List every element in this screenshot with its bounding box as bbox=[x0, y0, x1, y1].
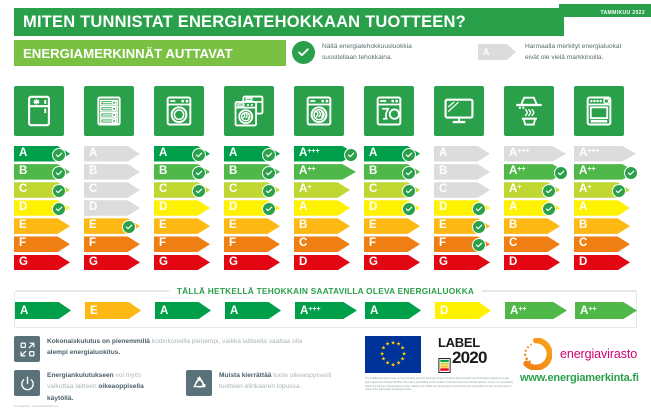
energy-class-label: G bbox=[434, 257, 448, 269]
energy-class-bar[interactable]: D bbox=[84, 200, 140, 216]
energy-class-label: F bbox=[14, 238, 26, 250]
best-class-bar[interactable]: A bbox=[15, 302, 71, 319]
infographic-page: TAMMIKUU 2022 MITEN TUNNISTAT ENERGIATEH… bbox=[0, 0, 651, 410]
recommended-check-icon bbox=[402, 184, 416, 198]
energy-label-icon bbox=[438, 358, 451, 373]
energy-class-bar[interactable]: G bbox=[154, 255, 210, 271]
energy-class-label: D bbox=[84, 202, 97, 214]
product-icon-box bbox=[154, 86, 204, 136]
recommended-check-icon bbox=[262, 166, 276, 180]
energy-class-bar[interactable]: B bbox=[84, 164, 140, 180]
best-class-label: A bbox=[365, 305, 378, 317]
recommended-check-icon bbox=[192, 166, 206, 180]
recommended-check-icon bbox=[52, 148, 66, 162]
energy-class-label: A bbox=[294, 202, 307, 214]
energy-class-label: B bbox=[294, 220, 307, 232]
header-subtitle-bar: ENERGIAMERKINNÄT AUTTAVAT bbox=[14, 40, 286, 66]
product-icon-box bbox=[504, 86, 554, 136]
energy-class-bar[interactable]: F bbox=[224, 236, 280, 252]
gray-arrow-label: A bbox=[478, 47, 490, 57]
refrigerator-icon bbox=[22, 94, 56, 128]
footer-tip-total-consumption: Kokonaiskulutus on pienemmillä kodinkone… bbox=[14, 336, 324, 362]
energy-class-label: F bbox=[154, 238, 166, 250]
product-column: A+++A++A+ABCD bbox=[574, 86, 642, 273]
energy-class-label: C bbox=[434, 184, 447, 196]
energy-class-bar[interactable]: B bbox=[294, 218, 350, 234]
product-icon-box bbox=[224, 86, 274, 136]
footer-tip-text: Kokonaiskulutus on pienemmillä kodinkone… bbox=[47, 336, 315, 359]
product-column: A+++A++A+ABCD bbox=[504, 86, 572, 273]
energy-class-label: C bbox=[224, 184, 237, 196]
recommended-check-icon bbox=[402, 202, 416, 216]
divider-left bbox=[15, 290, 169, 291]
best-class-bar[interactable]: A++ bbox=[575, 302, 637, 319]
energy-class-label: A bbox=[14, 148, 27, 160]
product-icon-box bbox=[434, 86, 484, 136]
energy-class-label: D bbox=[364, 202, 377, 214]
best-available-title: TÄLLÄ HETKELLÄ TEHOKKAIN SAATAVILLA OLEV… bbox=[169, 286, 482, 296]
product-column: ABCDEFG bbox=[434, 86, 502, 273]
oven-icon bbox=[582, 94, 616, 128]
energy-scale: ABCDEFG bbox=[84, 146, 152, 270]
energy-class-bar[interactable]: E bbox=[224, 218, 280, 234]
recommended-check-icon bbox=[554, 166, 568, 180]
page-title: MITEN TUNNISTAT ENERGIATEHOKKAAN TUOTTEE… bbox=[14, 13, 466, 32]
energy-class-label: C bbox=[364, 184, 377, 196]
date-banner: TAMMIKUU 2022 bbox=[559, 4, 651, 17]
footer-tip-text: Energiankulutukseen voi myös vaikuttaa l… bbox=[47, 370, 167, 404]
energy-class-bar[interactable]: E bbox=[364, 218, 420, 234]
energy-class-label: E bbox=[14, 220, 27, 232]
energy-class-label: A++ bbox=[574, 166, 596, 178]
recommended-check-icon bbox=[624, 166, 638, 180]
energy-class-label: B bbox=[574, 220, 587, 232]
energy-scale: ABCDEFG bbox=[364, 146, 432, 270]
energy-class-label: E bbox=[434, 220, 447, 232]
eu-star-icon: ★ bbox=[391, 363, 396, 368]
expand-arrows-icon bbox=[14, 336, 40, 362]
energy-class-label: A+ bbox=[504, 184, 521, 196]
best-class-bar[interactable]: E bbox=[85, 302, 141, 319]
energy-class-bar[interactable]: G bbox=[84, 255, 140, 271]
energy-class-label: C bbox=[14, 184, 27, 196]
energy-class-bar[interactable]: C bbox=[574, 236, 630, 252]
legend-line-2: eivät ole vielä markkinoilla. bbox=[525, 53, 621, 64]
cooker-hood-icon bbox=[512, 94, 546, 128]
energy-class-label: G bbox=[154, 257, 168, 269]
energy-class-bar[interactable]: F bbox=[84, 236, 140, 252]
washer-dryer-icon bbox=[232, 94, 266, 128]
energy-scale: ABCDEFG bbox=[14, 146, 82, 270]
eu-star-icon: ★ bbox=[385, 342, 390, 347]
energy-class-bar[interactable]: E bbox=[14, 218, 70, 234]
legend-line-2: suositellaan tehokkaina. bbox=[322, 53, 412, 64]
energy-class-label: B bbox=[504, 220, 517, 232]
energy-class-bar[interactable]: B bbox=[434, 164, 490, 180]
energy-class-bar[interactable]: A bbox=[574, 200, 630, 216]
eu-star-icon: ★ bbox=[391, 341, 396, 346]
recommended-check-icon bbox=[402, 166, 416, 180]
energy-class-label: A bbox=[504, 202, 517, 214]
best-class-bar[interactable]: A+++ bbox=[295, 302, 357, 319]
energy-class-bar[interactable]: F bbox=[364, 236, 420, 252]
energy-class-bar[interactable]: A+++ bbox=[504, 146, 566, 162]
energy-class-label: F bbox=[364, 238, 376, 250]
recommended-check-icon bbox=[402, 148, 416, 162]
energy-class-label: E bbox=[84, 220, 97, 232]
recommended-check-icon bbox=[612, 184, 626, 198]
website-link[interactable]: www.energiamerkinta.fi bbox=[520, 372, 639, 384]
header-title-bar: MITEN TUNNISTAT ENERGIATEHOKKAAN TUOTTEE… bbox=[14, 8, 564, 36]
energy-scale: A+++A++A+ABCD bbox=[504, 146, 572, 270]
energy-class-label: A bbox=[154, 148, 167, 160]
tip-bold-1: Kokonaiskulutus on pienemmillä bbox=[47, 338, 150, 345]
energy-class-bar[interactable]: G bbox=[364, 255, 420, 271]
recommended-check-icon bbox=[542, 184, 556, 198]
energiavirasto-ring-icon bbox=[520, 338, 552, 370]
energy-class-bar[interactable]: G bbox=[434, 255, 490, 271]
product-column: ABCDEFG bbox=[14, 86, 82, 273]
energy-scale: ABCDEFG bbox=[224, 146, 292, 270]
best-class-bar[interactable]: A bbox=[365, 302, 421, 319]
energy-class-label: B bbox=[224, 166, 237, 178]
energy-class-bar[interactable]: F bbox=[14, 236, 70, 252]
energy-class-bar[interactable]: A bbox=[294, 200, 350, 216]
energy-class-label: C bbox=[294, 238, 307, 250]
label2020-logo: LABEL 2020 bbox=[438, 336, 506, 373]
page-subtitle: ENERGIAMERKINNÄT AUTTAVAT bbox=[14, 46, 233, 61]
product-column: ABCDEFG bbox=[224, 86, 292, 273]
eu-flag-icon: ★★★★★★★★★★★★ bbox=[365, 336, 421, 373]
energy-class-label: C bbox=[504, 238, 517, 250]
eu-star-icon: ★ bbox=[381, 357, 386, 362]
recommended-check-icon bbox=[344, 148, 358, 162]
energy-class-label: G bbox=[14, 257, 28, 269]
tumble-dryer-icon bbox=[302, 94, 336, 128]
energy-class-label: F bbox=[434, 238, 446, 250]
recommended-check-icon bbox=[192, 184, 206, 198]
best-class-label: A bbox=[155, 305, 168, 317]
recommended-check-icon bbox=[542, 202, 556, 216]
product-icon-box bbox=[574, 86, 624, 136]
energy-class-label: B bbox=[154, 166, 167, 178]
energy-class-bar[interactable]: D bbox=[294, 255, 350, 271]
energy-class-bar[interactable]: A+ bbox=[294, 182, 350, 198]
energy-class-label: C bbox=[574, 238, 587, 250]
energy-class-label: A bbox=[84, 148, 97, 160]
energy-class-label: E bbox=[224, 220, 237, 232]
energy-class-bar[interactable]: G bbox=[14, 255, 70, 271]
footer: Kokonaiskulutus on pienemmillä kodinkone… bbox=[0, 332, 651, 410]
energy-class-bar[interactable]: A bbox=[84, 146, 140, 162]
energy-class-label: D bbox=[294, 257, 307, 269]
product-column: ABCDEFG bbox=[84, 86, 152, 273]
image-credit: Kuvalähde: www.label2020.eu bbox=[14, 404, 58, 408]
energy-class-bar[interactable]: F bbox=[154, 236, 210, 252]
energy-class-label: A bbox=[224, 148, 237, 160]
tip-bold-1: Energiankulutukseen bbox=[47, 372, 114, 379]
eu-star-icon: ★ bbox=[396, 361, 401, 366]
best-class-label: E bbox=[85, 305, 98, 317]
eu-star-icon: ★ bbox=[380, 352, 385, 357]
legend-line-1: Näitä energiatehokkuusluokkia bbox=[322, 42, 412, 53]
recommended-check-icon bbox=[472, 238, 486, 252]
recommended-check-icon bbox=[192, 148, 206, 162]
energy-class-bar[interactable]: C bbox=[294, 236, 350, 252]
energy-class-bar[interactable]: C bbox=[84, 182, 140, 198]
product-icon-box bbox=[294, 86, 344, 136]
energy-scale: A+++A++A+ABCD bbox=[574, 146, 642, 270]
recommended-check-icon bbox=[472, 202, 486, 216]
best-class-label: A bbox=[225, 305, 238, 317]
recommended-check-icon bbox=[262, 184, 276, 198]
publication-date: TAMMIKUU 2022 bbox=[600, 10, 645, 16]
legend-line-1: Harmaalla merkityt energialuokat bbox=[525, 42, 621, 53]
best-class-label: A+++ bbox=[295, 305, 321, 317]
energy-class-label: D bbox=[574, 257, 587, 269]
legend-text-not-available: Harmaalla merkityt energialuokat eivät o… bbox=[525, 40, 621, 64]
energy-class-label: A bbox=[364, 148, 377, 160]
product-column: ABCDEFG bbox=[364, 86, 432, 273]
recommended-check-icon bbox=[52, 202, 66, 216]
best-class-bar[interactable]: D bbox=[435, 302, 491, 319]
best-class-bar[interactable]: A++ bbox=[505, 302, 567, 319]
energy-class-label: C bbox=[84, 184, 97, 196]
product-icon-box bbox=[364, 86, 414, 136]
recommended-check-icon bbox=[122, 220, 136, 234]
recommended-check-icon bbox=[472, 220, 486, 234]
legend: Näitä energiatehokkuusluokkia suositella… bbox=[292, 40, 651, 70]
energy-class-label: A+ bbox=[294, 184, 311, 196]
best-class-label: D bbox=[435, 305, 448, 317]
legend-item-not-available: A Harmaalla merkityt energialuokat eivät… bbox=[478, 40, 621, 64]
energy-class-bar[interactable]: A+++ bbox=[574, 146, 636, 162]
energy-class-label: D bbox=[504, 257, 517, 269]
energy-class-label: G bbox=[224, 257, 238, 269]
energy-class-label: A++ bbox=[294, 166, 316, 178]
footer-tip-text: Muista kierrättää tuote oikeaoppisesti t… bbox=[219, 370, 339, 393]
product-icon-box bbox=[84, 86, 134, 136]
energy-class-label: B bbox=[14, 166, 27, 178]
energy-class-label: B bbox=[364, 166, 377, 178]
wine-cooler-icon bbox=[92, 94, 126, 128]
energy-class-label: F bbox=[224, 238, 236, 250]
energy-class-label: A++ bbox=[504, 166, 526, 178]
energiavirasto-logo: energiavirasto bbox=[520, 338, 637, 370]
energy-class-bar[interactable]: A bbox=[434, 146, 490, 162]
energy-class-bar[interactable]: E bbox=[154, 218, 210, 234]
footer-tip-usage: Energiankulutukseen voi myös vaikuttaa l… bbox=[14, 370, 214, 404]
tip-normal-1: kodinkoneilla pienempi, vaikka laitteell… bbox=[150, 338, 302, 345]
energy-class-bar[interactable]: A++ bbox=[294, 164, 356, 180]
best-class-bar[interactable]: A bbox=[225, 302, 281, 319]
energy-class-bar[interactable]: B bbox=[574, 218, 630, 234]
energy-class-label: A bbox=[574, 202, 587, 214]
energy-class-label: D bbox=[154, 202, 167, 214]
recommended-check-icon bbox=[262, 148, 276, 162]
monitor-icon bbox=[442, 94, 476, 128]
energy-class-bar[interactable]: C bbox=[434, 182, 490, 198]
eu-disclaimer: The LABEL2020 project has received fundi… bbox=[365, 377, 515, 392]
energy-class-label: D bbox=[434, 202, 447, 214]
energy-class-bar[interactable]: G bbox=[224, 255, 280, 271]
energy-class-label: G bbox=[84, 257, 98, 269]
best-available-panel: TÄLLÄ HETKELLÄ TEHOKKAIN SAATAVILLA OLEV… bbox=[14, 292, 637, 328]
product-column: ABCDEFG bbox=[154, 86, 222, 273]
best-class-label: A++ bbox=[505, 305, 527, 317]
recommended-check-icon bbox=[52, 166, 66, 180]
energy-class-label: G bbox=[364, 257, 378, 269]
legend-text-recommended: Näitä energiatehokkuusluokkia suositella… bbox=[322, 40, 412, 64]
energy-class-bar[interactable]: D bbox=[504, 255, 560, 271]
best-class-bar[interactable]: A bbox=[155, 302, 211, 319]
energy-class-label: E bbox=[154, 220, 167, 232]
legend-item-recommended: Näitä energiatehokkuusluokkia suositella… bbox=[292, 40, 472, 64]
energy-class-label: C bbox=[154, 184, 167, 196]
energy-class-label: D bbox=[14, 202, 27, 214]
energy-class-bar[interactable]: D bbox=[574, 255, 630, 271]
energy-class-label: A+ bbox=[574, 184, 591, 196]
energy-class-label: B bbox=[434, 166, 447, 178]
energy-scale: ABCDEFG bbox=[154, 146, 222, 270]
energy-scale: ABCDEFG bbox=[434, 146, 502, 270]
energy-class-label: A bbox=[434, 148, 447, 160]
best-available-heading: TÄLLÄ HETKELLÄ TEHOKKAIN SAATAVILLA OLEV… bbox=[15, 286, 636, 296]
product-icon-box bbox=[14, 86, 64, 136]
agency-name[interactable]: energiavirasto bbox=[560, 347, 637, 361]
tip-bold-1: Muista kierrättää bbox=[219, 372, 271, 379]
product-column: A+++A++A+ABCD bbox=[294, 86, 362, 273]
energy-class-label: E bbox=[364, 220, 377, 232]
dishwasher-icon bbox=[372, 94, 406, 128]
energy-class-label: A+++ bbox=[574, 148, 600, 160]
gray-arrow-icon: A bbox=[478, 44, 516, 60]
footer-tip-recycle: Muista kierrättää tuote oikeaoppisesti t… bbox=[186, 370, 366, 396]
energy-class-label: A+++ bbox=[504, 148, 530, 160]
energy-class-label: A+++ bbox=[294, 148, 320, 160]
energy-class-bar[interactable]: D bbox=[154, 200, 210, 216]
best-class-label: A++ bbox=[575, 305, 597, 317]
tip-bold-2: alempi energialuokitus. bbox=[47, 349, 120, 356]
energy-class-grid: ABCDEFGABCDEFGABCDEFGABCDEFGA+++A++A+ABC… bbox=[0, 86, 651, 284]
energy-class-label: D bbox=[224, 202, 237, 214]
energy-class-label: B bbox=[84, 166, 97, 178]
recommended-check-icon bbox=[262, 202, 276, 216]
check-circle-icon bbox=[292, 41, 315, 64]
divider-right bbox=[482, 290, 636, 291]
energy-class-label: F bbox=[84, 238, 96, 250]
energy-class-bar[interactable]: B bbox=[504, 218, 560, 234]
washing-machine-icon bbox=[162, 94, 196, 128]
best-class-label: A bbox=[15, 305, 28, 317]
best-available-row: AEAAA+++ADA++A++ bbox=[15, 302, 636, 320]
recommended-check-icon bbox=[52, 184, 66, 198]
power-icon bbox=[14, 370, 40, 396]
label2020-bottom-text: 2020 bbox=[452, 349, 506, 366]
energy-class-bar[interactable]: C bbox=[504, 236, 560, 252]
energy-scale: A+++A++A+ABCD bbox=[294, 146, 362, 270]
recycle-icon bbox=[186, 370, 212, 396]
